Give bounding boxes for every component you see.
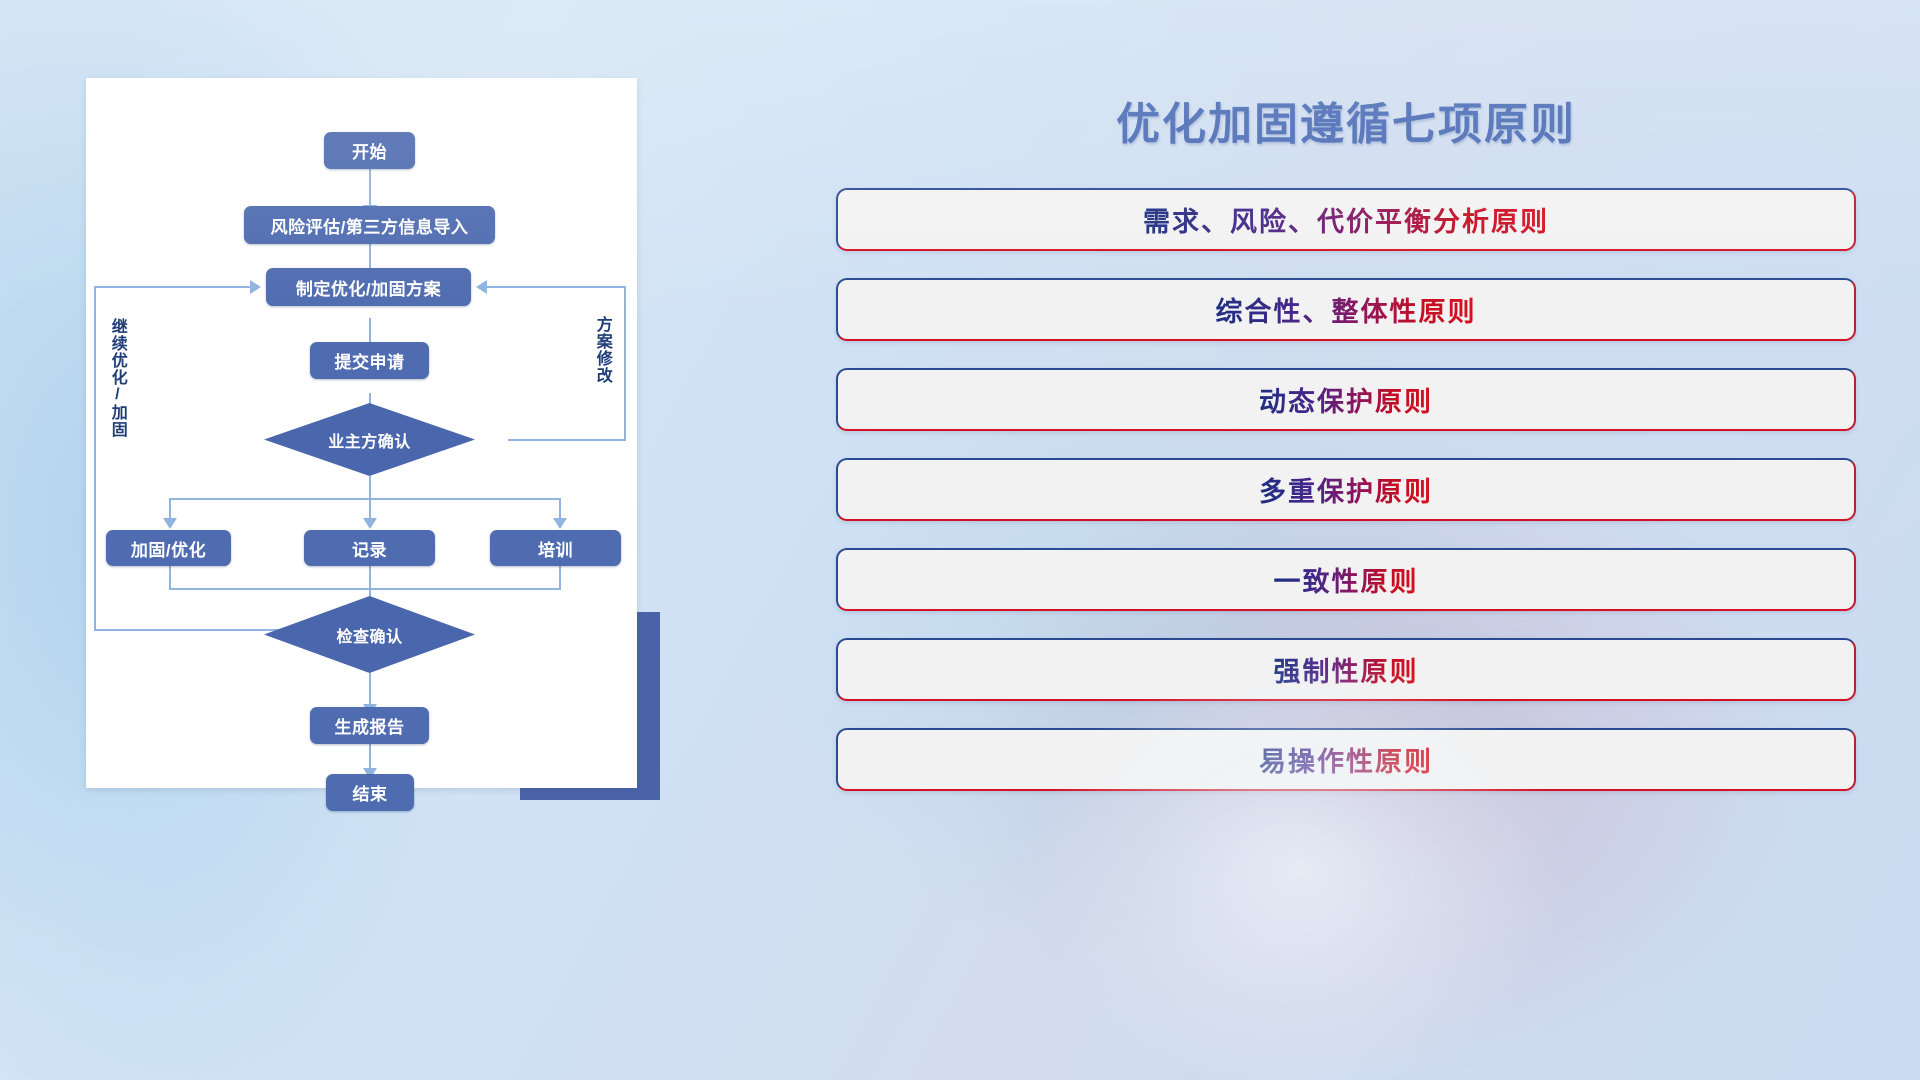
principles-title: 优化加固遵循七项原则 bbox=[836, 88, 1856, 152]
flow-node-end-label: 结束 bbox=[353, 780, 388, 805]
principle-card-1[interactable]: 需求、风险、代价平衡分析原则 bbox=[836, 188, 1856, 251]
connector-rise-reinforce bbox=[169, 566, 171, 590]
connector-left-loop-vertical bbox=[94, 286, 96, 631]
principles-card-list: 需求、风险、代价平衡分析原则 综合性、整体性原则 动态保护原则 多重保护原则 一… bbox=[836, 188, 1856, 818]
flow-decision-owner-confirm[interactable]: 业主方确认 bbox=[264, 403, 475, 476]
principle-card-7[interactable]: 易操作性原则 bbox=[836, 728, 1856, 791]
principle-card-4-label: 多重保护原则 bbox=[1259, 470, 1433, 509]
connector-right-up bbox=[624, 286, 626, 441]
flow-node-reinforce-label: 加固/优化 bbox=[131, 536, 206, 561]
flow-node-end[interactable]: 结束 bbox=[326, 774, 414, 811]
connector-fanout-bus bbox=[169, 498, 561, 500]
arrowhead-drop-reinforce bbox=[163, 518, 177, 529]
arrowhead-left-to-plan bbox=[250, 280, 261, 294]
principle-card-5[interactable]: 一致性原则 bbox=[836, 548, 1856, 611]
connector-left-to-plan bbox=[94, 286, 254, 288]
principle-card-7-label: 易操作性原则 bbox=[1259, 740, 1433, 779]
principles-panel: 优化加固遵循七项原则 需求、风险、代价平衡分析原则 综合性、整体性原则 动态保护… bbox=[836, 80, 1856, 820]
principle-card-2-label: 综合性、整体性原则 bbox=[1216, 290, 1477, 329]
flow-node-record[interactable]: 记录 bbox=[304, 530, 435, 566]
flow-node-submit-label: 提交申请 bbox=[335, 348, 405, 373]
flow-decision-owner-confirm-label: 业主方确认 bbox=[328, 428, 411, 452]
flow-node-risk-assessment[interactable]: 风险评估/第三方信息导入 bbox=[244, 206, 495, 244]
arrowhead-drop-train bbox=[553, 518, 567, 529]
flowchart-canvas: 开始 风险评估/第三方信息导入 制定优化/加固方案 提交申请 业主方确认 加固/… bbox=[86, 78, 637, 788]
flow-node-report-label: 生成报告 bbox=[335, 713, 405, 738]
flow-node-submit[interactable]: 提交申请 bbox=[310, 342, 429, 379]
principle-card-5-label: 一致性原则 bbox=[1274, 560, 1419, 599]
flow-node-plan[interactable]: 制定优化/加固方案 bbox=[266, 268, 471, 306]
flow-node-start-label: 开始 bbox=[352, 138, 387, 163]
flow-label-continue-optimize: 继续优化/加固 bbox=[108, 318, 125, 438]
flow-label-plan-revision: 方案修改 bbox=[593, 316, 610, 384]
flow-decision-check-confirm[interactable]: 检查确认 bbox=[264, 596, 475, 673]
connector-owner-right bbox=[508, 439, 626, 441]
slide-root: 开始 风险评估/第三方信息导入 制定优化/加固方案 提交申请 业主方确认 加固/… bbox=[0, 0, 1920, 1080]
arrowhead-drop-record bbox=[363, 518, 377, 529]
arrowhead-right-to-plan bbox=[476, 280, 487, 294]
connector-rise-train bbox=[559, 566, 561, 590]
principle-card-1-label: 需求、风险、代价平衡分析原则 bbox=[1143, 200, 1549, 239]
principle-card-6-label: 强制性原则 bbox=[1274, 650, 1419, 689]
flowchart-panel: 开始 风险评估/第三方信息导入 制定优化/加固方案 提交申请 业主方确认 加固/… bbox=[86, 78, 637, 788]
flow-node-report[interactable]: 生成报告 bbox=[310, 707, 429, 744]
principle-card-3[interactable]: 动态保护原则 bbox=[836, 368, 1856, 431]
flow-node-plan-label: 制定优化/加固方案 bbox=[296, 275, 441, 300]
flow-node-train[interactable]: 培训 bbox=[490, 530, 621, 566]
flow-decision-check-confirm-label: 检查确认 bbox=[336, 623, 402, 647]
principle-card-3-label: 动态保护原则 bbox=[1259, 380, 1433, 419]
flow-node-train-label: 培训 bbox=[538, 536, 573, 561]
principle-card-4[interactable]: 多重保护原则 bbox=[836, 458, 1856, 521]
flow-node-record-label: 记录 bbox=[352, 536, 387, 561]
flow-node-risk-assessment-label: 风险评估/第三方信息导入 bbox=[271, 213, 469, 238]
connector-merge-bus bbox=[169, 588, 561, 590]
connector-start-to-risk bbox=[369, 168, 371, 210]
principle-card-2[interactable]: 综合性、整体性原则 bbox=[836, 278, 1856, 341]
connector-right-to-plan bbox=[486, 286, 626, 288]
connector-owner-down bbox=[369, 476, 371, 500]
principle-card-6[interactable]: 强制性原则 bbox=[836, 638, 1856, 701]
flow-node-reinforce[interactable]: 加固/优化 bbox=[106, 530, 231, 566]
flow-node-start[interactable]: 开始 bbox=[324, 132, 415, 169]
